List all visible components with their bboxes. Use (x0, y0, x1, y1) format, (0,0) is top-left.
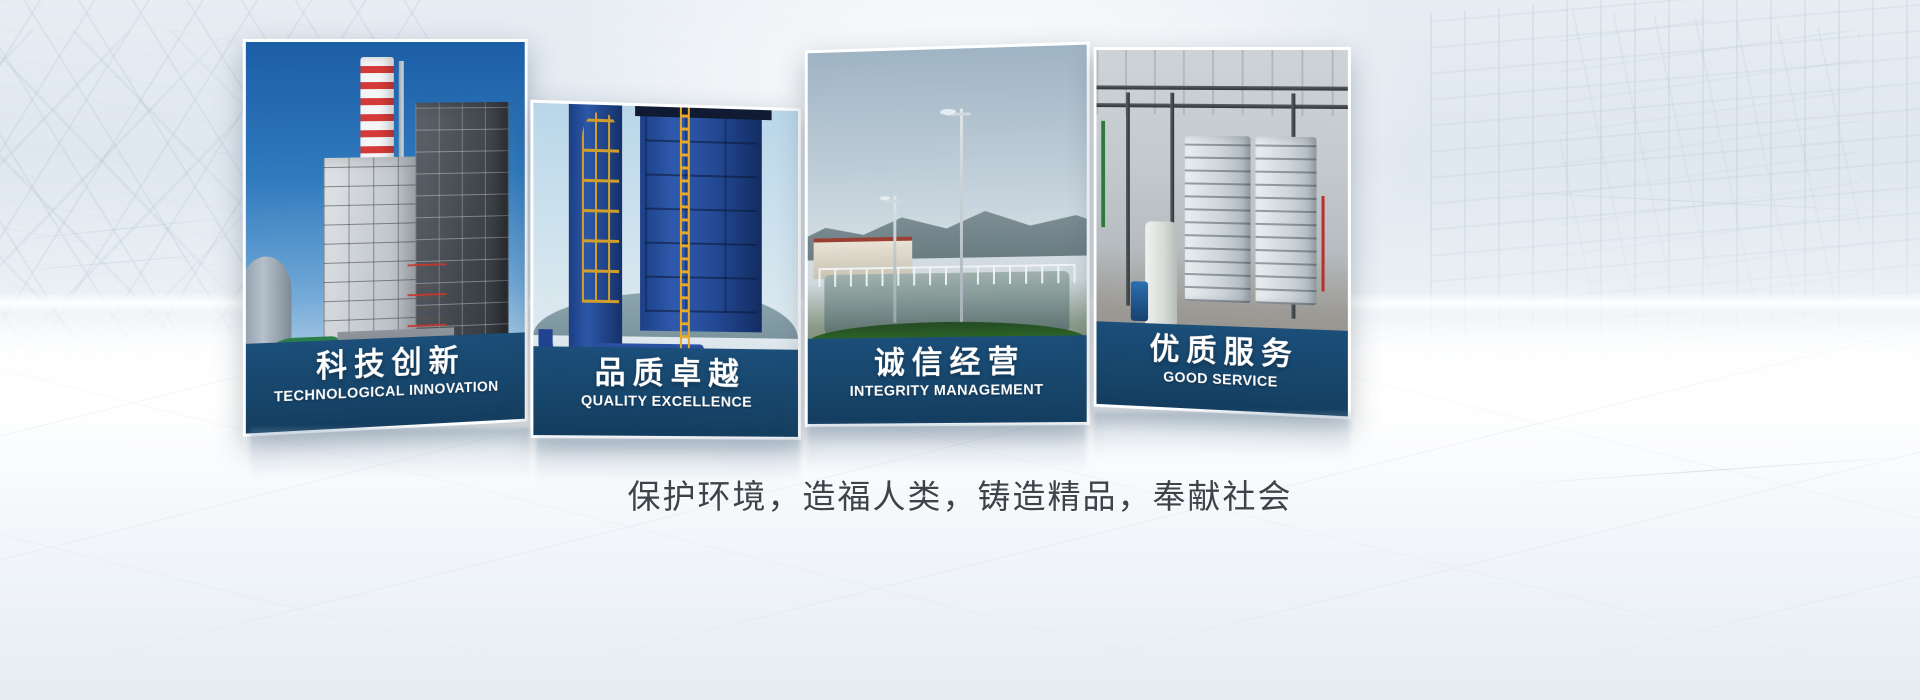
ladder-safety-cage (582, 111, 619, 304)
red-valve-stem-1 (1322, 196, 1325, 291)
ro-membrane-rack-2 (1255, 137, 1316, 306)
panel2-caption: 品质卓越 QUALITY EXCELLENCE (533, 346, 798, 437)
panel4-reflection (1094, 412, 1350, 468)
panel1-caption: 科技创新 TECHNOLOGICAL INNOVATION (246, 332, 525, 433)
panel3-title-en: INTEGRITY MANAGEMENT (812, 382, 1083, 401)
street-lamp-head-second (879, 196, 890, 200)
panel2-title-en: QUALITY EXCELLENCE (537, 393, 794, 411)
dust-collector-body (640, 103, 761, 332)
panel4-caption: 优质服务 GOOD SERVICE (1097, 321, 1348, 416)
panel-technological-innovation[interactable]: 科技创新 TECHNOLOGICAL INNOVATION (243, 39, 528, 437)
green-pipe (1101, 121, 1105, 227)
panel3-title-zh: 诚信经营 (812, 344, 1083, 382)
banner-tagline: 保护环境，造福人类，铸造精品，奉献社会 (0, 470, 1920, 518)
wall-pipe-1 (1126, 93, 1130, 306)
panel-good-service[interactable]: 优质服务 GOOD SERVICE (1094, 47, 1351, 420)
panel-quality-excellence[interactable]: 品质卓越 QUALITY EXCELLENCE (530, 100, 801, 440)
panel3-caption: 诚信经营 INTEGRITY MANAGEMENT (808, 335, 1087, 424)
ro-membrane-rack-1 (1185, 136, 1250, 303)
panel-integrity-management[interactable]: 诚信经营 INTEGRITY MANAGEMENT (805, 42, 1090, 428)
blue-pump (1131, 281, 1148, 321)
banner-stage: 科技创新 TECHNOLOGICAL INNOVATION 品质 (0, 0, 1920, 700)
chemical-dosing-tank (1145, 221, 1177, 329)
street-lamp-pole-second (893, 196, 896, 323)
panel-group: 科技创新 TECHNOLOGICAL INNOVATION 品质 (0, 0, 1920, 700)
panel2-title-zh: 品质卓越 (537, 355, 794, 393)
